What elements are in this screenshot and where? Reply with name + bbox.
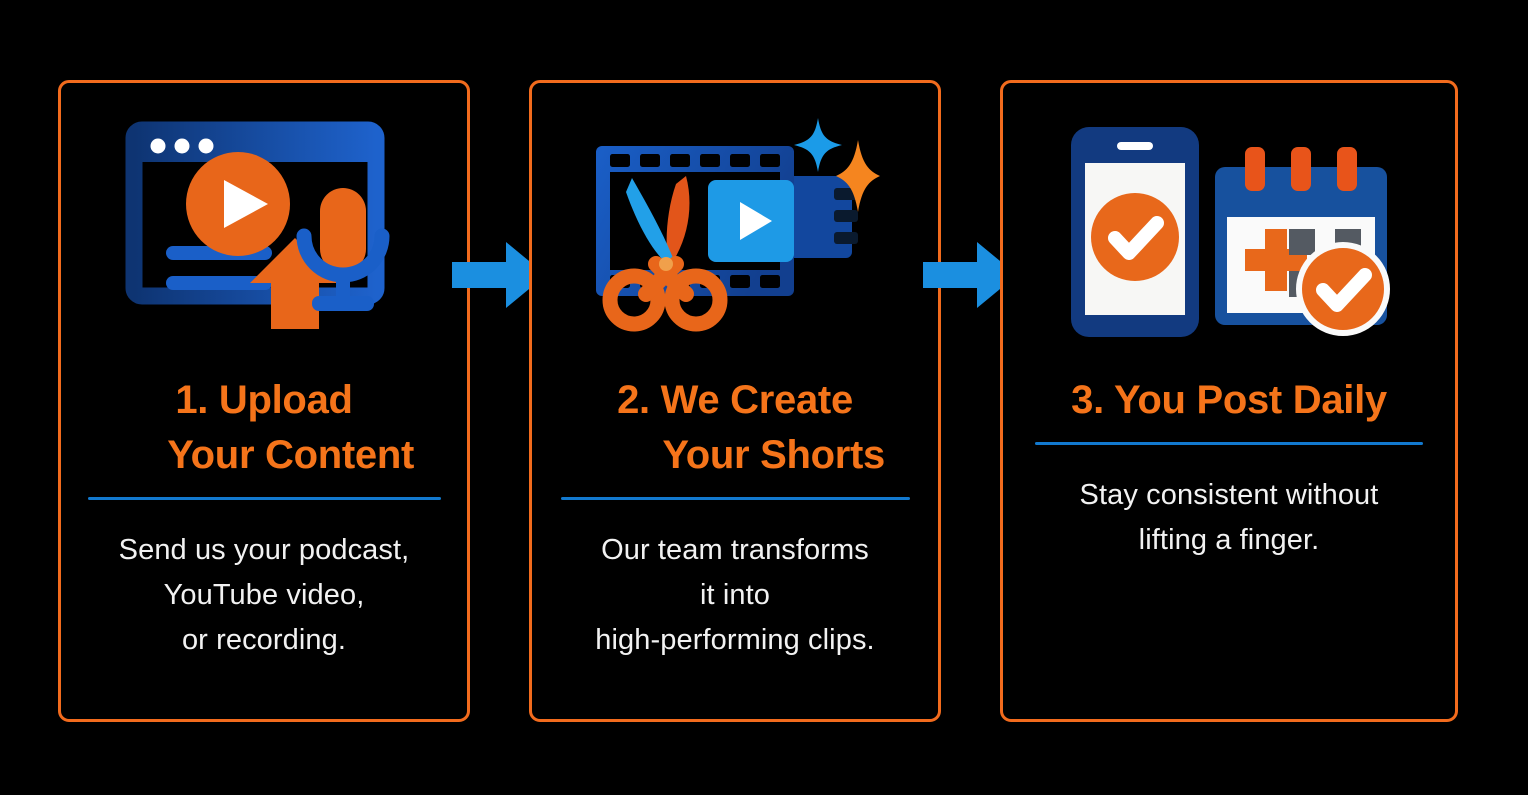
step-3-divider (1035, 442, 1423, 445)
step-1-title-line1: 1. Upload (175, 378, 352, 422)
step-2-title: 2. We Create Your Shorts (585, 373, 885, 483)
step-1-description: Send us your podcast, YouTube video, or … (119, 528, 410, 663)
step-1-title: 1. Upload Your Content (114, 373, 414, 483)
smartphone-icon (1071, 127, 1199, 337)
step-1-icon-zone (61, 83, 467, 373)
step-3-title: 3. You Post Daily (1071, 373, 1387, 428)
step-2-title-line1: 2. We Create (617, 378, 853, 422)
step-1-desc-line-1: Send us your podcast, (119, 528, 410, 573)
step-card-3[interactable]: 3. You Post Daily Stay consistent withou… (1000, 80, 1458, 722)
infographic-board: 1. Upload Your Content Send us your podc… (0, 0, 1528, 795)
step-3-desc-line-2: lifting a finger. (1080, 518, 1379, 563)
step-card-2[interactable]: 2. We Create Your Shorts Our team transf… (529, 80, 941, 722)
step-1-desc-line-3: or recording. (119, 618, 410, 663)
step-2-description: Our team transforms it into high-perform… (595, 528, 874, 663)
calendar-icon (1215, 147, 1387, 333)
phone-calendar-check-icon (1067, 119, 1392, 344)
step-1-divider (88, 497, 441, 500)
step-3-icon-zone (1003, 83, 1455, 373)
step-1-title-line2: Your Content (114, 428, 414, 483)
step-1-text-zone: 1. Upload Your Content Send us your podc… (61, 373, 467, 719)
step-2-text-zone: 2. We Create Your Shorts Our team transf… (532, 373, 938, 719)
step-2-desc-line-2: it into (595, 573, 874, 618)
step-3-description: Stay consistent without lifting a finger… (1080, 473, 1379, 563)
step-2-title-line2: Your Shorts (585, 428, 885, 483)
step-2-desc-line-1: Our team transforms (595, 528, 874, 573)
step-3-desc-line-1: Stay consistent without (1080, 473, 1379, 518)
step-card-1[interactable]: 1. Upload Your Content Send us your podc… (58, 80, 470, 722)
sparkle-blue-icon (794, 118, 842, 172)
film-strip-scissors-icon (590, 114, 880, 349)
step-2-icon-zone (532, 83, 938, 373)
step-3-text-zone: 3. You Post Daily Stay consistent withou… (1003, 373, 1455, 719)
step-2-divider (561, 497, 910, 500)
step-1-desc-line-2: YouTube video, (119, 573, 410, 618)
step-3-title-line1: 3. You Post Daily (1071, 378, 1387, 422)
step-2-desc-line-3: high-performing clips. (595, 618, 874, 663)
upload-media-window-icon (134, 116, 394, 346)
